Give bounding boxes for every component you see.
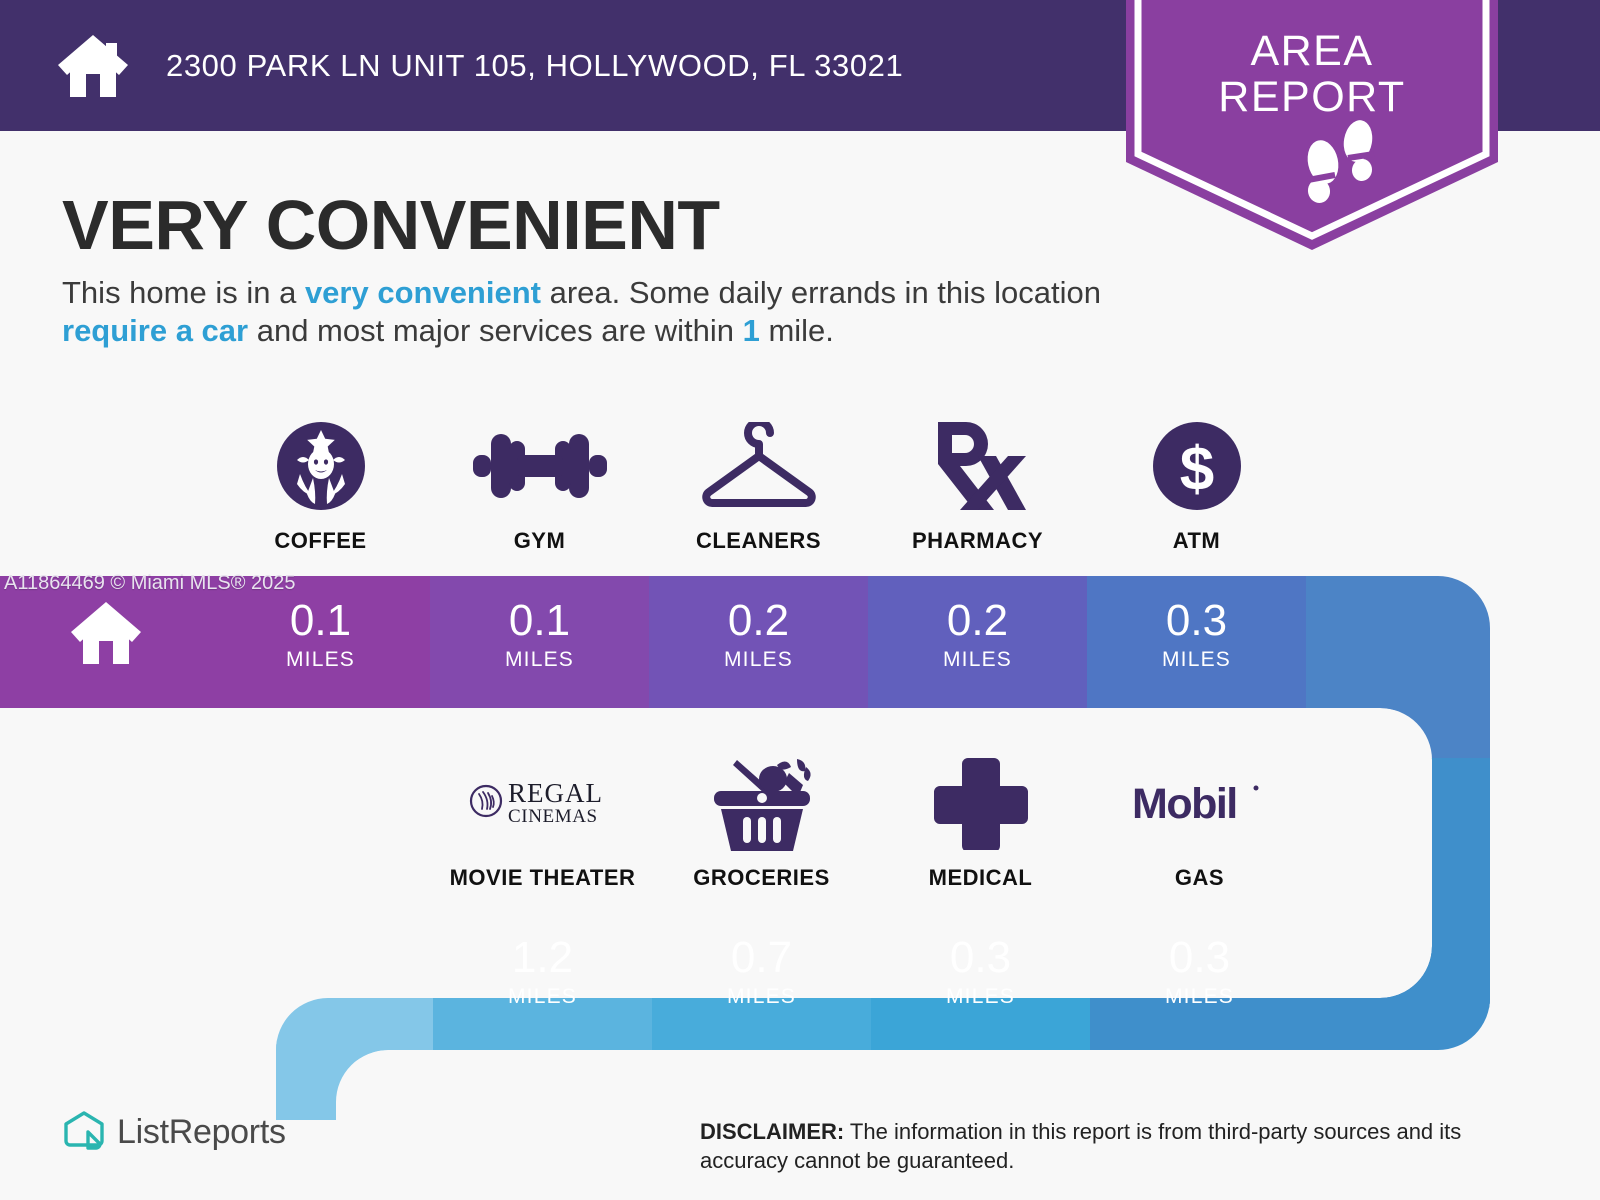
brand-name: ListReports [117, 1113, 286, 1152]
svg-text:$: $ [1179, 435, 1213, 504]
svg-text:CINEMAS: CINEMAS [508, 806, 598, 827]
distance-unit: MILES [508, 985, 577, 1009]
category-label: GAS [1175, 865, 1224, 891]
distance-value: 0.1 [290, 599, 351, 643]
subtitle-part-1: This home is in a [62, 275, 305, 310]
category-medical: MEDICAL [871, 755, 1090, 891]
distance-value: 0.2 [728, 599, 789, 643]
band-home-icon [70, 600, 142, 666]
mls-watermark: A11864469 © Miami MLS® 2025 [4, 572, 295, 595]
distance-value: 0.3 [1166, 599, 1227, 643]
distance-unit: MILES [946, 985, 1015, 1009]
distance-pharmacy: 0.2 MILES [868, 576, 1087, 694]
distance-value: 1.2 [512, 936, 573, 980]
grocery-basket-icon [707, 755, 817, 851]
distance-gym: 0.1 MILES [430, 576, 649, 694]
category-gym: GYM [430, 418, 649, 554]
subtitle-part-4: mile. [760, 313, 834, 348]
svg-text:REGAL: REGAL [508, 778, 603, 808]
distance-unit: MILES [727, 985, 796, 1009]
distance-unit: MILES [505, 648, 574, 672]
distance-movie-theater: 1.2 MILES [433, 913, 652, 1031]
category-label: MEDICAL [929, 865, 1033, 891]
area-report-badge: AREA REPORT [1122, 0, 1502, 254]
hanger-icon [697, 418, 821, 514]
distance-unit: MILES [1162, 648, 1231, 672]
rx-icon [930, 418, 1026, 514]
distance-value: 0.1 [509, 599, 570, 643]
category-cleaners: CLEANERS [649, 418, 868, 554]
distance-groceries: 0.7 MILES [652, 913, 871, 1031]
category-label: COFFEE [274, 528, 366, 554]
home-icon [57, 33, 129, 99]
category-groceries: GROCERIES [652, 755, 871, 891]
distance-value: 0.2 [947, 599, 1008, 643]
category-atm: $ ATM [1087, 418, 1306, 554]
page-title: VERY CONVENIENT [62, 185, 720, 265]
svg-text:Mobil: Mobil [1132, 780, 1237, 828]
starbucks-logo [275, 418, 367, 514]
distance-value: 0.7 [731, 936, 792, 980]
distance-atm: 0.3 MILES [1087, 576, 1306, 694]
badge-label: AREA REPORT [1122, 28, 1502, 121]
distance-unit: MILES [724, 648, 793, 672]
distance-unit: MILES [1165, 985, 1234, 1009]
distance-row-1: 0.1 MILES 0.1 MILES 0.2 MILES 0.2 MILES … [211, 576, 1306, 694]
subtitle-highlight-3: 1 [743, 313, 760, 348]
distance-unit: MILES [286, 648, 355, 672]
distance-row-2: 1.2 MILES 0.7 MILES 0.3 MILES 0.3 MILES [433, 913, 1309, 1031]
property-address: 2300 PARK LN UNIT 105, HOLLYWOOD, FL 330… [166, 48, 903, 84]
category-movie-theater: REGAL CINEMAS MOVIE THEATER [433, 755, 652, 891]
category-label: CLEANERS [696, 528, 821, 554]
distance-gas: 0.3 MILES [1090, 913, 1309, 1031]
category-label: GROCERIES [693, 865, 830, 891]
mobil-logo: Mobil [1130, 755, 1270, 851]
page-subtitle: This home is in a very convenient area. … [62, 274, 1107, 350]
area-report-page: 2300 PARK LN UNIT 105, HOLLYWOOD, FL 330… [0, 0, 1600, 1200]
category-label: GYM [514, 528, 566, 554]
subtitle-highlight-1: very convenient [305, 275, 541, 310]
distance-value: 0.3 [950, 936, 1011, 980]
category-label: PHARMACY [912, 528, 1043, 554]
dumbbell-icon [473, 418, 607, 514]
disclaimer-label: DISCLAIMER: [700, 1119, 844, 1144]
category-label: MOVIE THEATER [450, 865, 636, 891]
category-label: ATM [1173, 528, 1221, 554]
category-pharmacy: PHARMACY [868, 418, 1087, 554]
category-gas: Mobil GAS [1090, 755, 1309, 891]
distance-unit: MILES [943, 648, 1012, 672]
category-icon-row-1: COFFEE GYM [211, 418, 1306, 554]
category-coffee: COFFEE [211, 418, 430, 554]
distance-medical: 0.3 MILES [871, 913, 1090, 1031]
medical-cross-icon [934, 755, 1028, 851]
disclaimer: DISCLAIMER: The information in this repo… [700, 1117, 1500, 1176]
distance-cleaners: 0.2 MILES [649, 576, 868, 694]
listreports-brand: ListReports [62, 1110, 286, 1154]
badge-line-2: REPORT [1122, 74, 1502, 120]
category-icon-row-2: REGAL CINEMAS MOVIE THEATER [433, 755, 1309, 891]
regal-cinemas-logo: REGAL CINEMAS [468, 755, 618, 851]
dollar-circle-icon: $ [1151, 418, 1243, 514]
distance-value: 0.3 [1169, 936, 1230, 980]
listreports-house-icon [62, 1110, 106, 1154]
subtitle-part-2: area. Some daily errands in this locatio… [541, 275, 1101, 310]
subtitle-part-3: and most major services are within [248, 313, 742, 348]
badge-line-1: AREA [1122, 28, 1502, 74]
subtitle-highlight-2: require a car [62, 313, 248, 348]
